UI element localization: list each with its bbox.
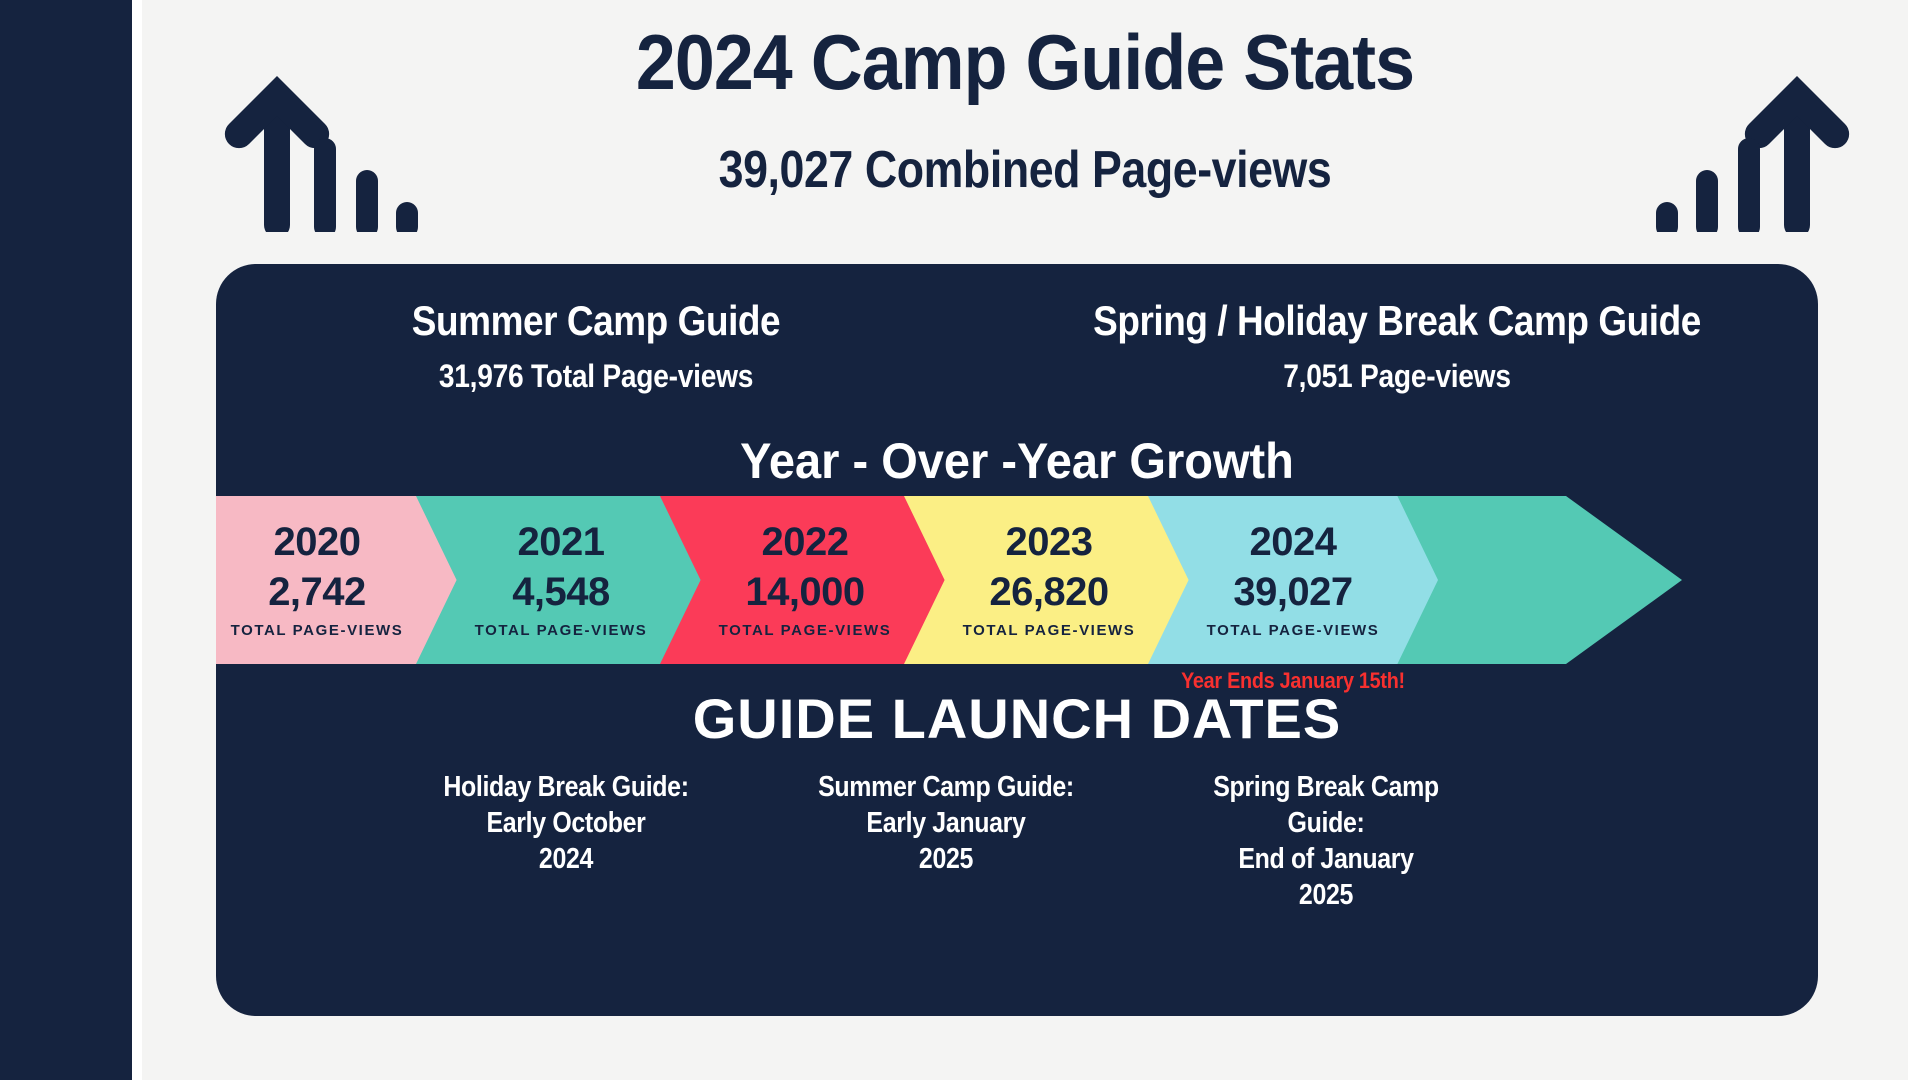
chevron-value: 39,027 — [1233, 572, 1352, 612]
launch-year: 2025 — [1180, 878, 1472, 914]
chevron-label: TOTAL PAGE-VIEWS — [231, 622, 404, 639]
chevron-value: 14,000 — [745, 572, 864, 612]
year-end-note: Year Ends January 15th! — [1158, 668, 1428, 694]
chevron-year: 2024 — [1250, 522, 1337, 562]
page-subtitle: 39,027 Combined Page-views — [266, 140, 1785, 200]
guide-summary-summer: Summer Camp Guide 31,976 Total Page-view… — [216, 298, 976, 395]
launch-guide-name: Holiday Break Guide: — [420, 770, 712, 806]
chevron-label: TOTAL PAGE-VIEWS — [1207, 622, 1380, 639]
guide-pageviews: 7,051 Page-views — [1027, 358, 1768, 395]
chevron-label: TOTAL PAGE-VIEWS — [719, 622, 892, 639]
launch-date-spring-break: Spring Break Camp Guide: End of January … — [1156, 770, 1496, 914]
chevron-2022: 202214,000TOTAL PAGE-VIEWS — [660, 496, 950, 664]
right-white-gutter — [1908, 0, 1920, 1080]
chevron-2020: 20202,742TOTAL PAGE-VIEWS — [216, 496, 462, 664]
launch-when: Early January — [800, 806, 1092, 842]
launch-when: End of January — [1180, 842, 1472, 878]
launch-dates-row: Holiday Break Guide: Early October 2024 … — [396, 770, 1496, 914]
launch-dates-heading: GUIDE LAUNCH DATES — [216, 686, 1818, 751]
yoy-heading: Year - Over -Year Growth — [264, 432, 1770, 490]
launch-date-summer-camp: Summer Camp Guide: Early January 2025 — [776, 770, 1116, 914]
chevron-value: 2,742 — [268, 572, 366, 612]
guide-pageviews: 31,976 Total Page-views — [262, 358, 931, 395]
page-title: 2024 Camp Guide Stats — [213, 22, 1838, 104]
chevron-value: 26,820 — [989, 572, 1108, 612]
guide-name: Summer Camp Guide — [262, 298, 931, 344]
infographic-canvas: 2024 Camp Guide Stats 39,027 Combined Pa… — [0, 0, 1920, 1080]
launch-guide-name: Summer Camp Guide: — [800, 770, 1092, 806]
launch-year: 2024 — [420, 842, 712, 878]
chevron-2024: 202439,027TOTAL PAGE-VIEWS — [1148, 496, 1438, 664]
chevron-value: 4,548 — [512, 572, 610, 612]
chevron-year: 2021 — [518, 522, 605, 562]
launch-guide-name: Spring Break Camp Guide: — [1180, 770, 1472, 842]
chevron-2021: 20214,548TOTAL PAGE-VIEWS — [416, 496, 706, 664]
growth-arrow-icon — [1632, 52, 1852, 232]
header: 2024 Camp Guide Stats 39,027 Combined Pa… — [142, 0, 1908, 258]
chevron-year: 2023 — [1006, 522, 1093, 562]
left-white-gutter — [132, 0, 142, 1080]
guide-summary-row: Summer Camp Guide 31,976 Total Page-view… — [216, 298, 1818, 395]
chevron-label: TOTAL PAGE-VIEWS — [475, 622, 648, 639]
chevron-2023: 202326,820TOTAL PAGE-VIEWS — [904, 496, 1194, 664]
stats-card: Summer Camp Guide 31,976 Total Page-view… — [216, 264, 1818, 1016]
launch-date-holiday-break: Holiday Break Guide: Early October 2024 — [396, 770, 736, 914]
launch-year: 2025 — [800, 842, 1092, 878]
yoy-chevron-chart: 20202,742TOTAL PAGE-VIEWS20214,548TOTAL … — [216, 496, 1818, 664]
chevron-label: TOTAL PAGE-VIEWS — [963, 622, 1136, 639]
left-navy-rail — [0, 0, 132, 1080]
chevron-year: 2020 — [274, 522, 361, 562]
chevron-year: 2022 — [762, 522, 849, 562]
launch-when: Early October — [420, 806, 712, 842]
guide-name: Spring / Holiday Break Camp Guide — [1027, 298, 1768, 344]
guide-summary-spring-holiday: Spring / Holiday Break Camp Guide 7,051 … — [976, 298, 1818, 395]
